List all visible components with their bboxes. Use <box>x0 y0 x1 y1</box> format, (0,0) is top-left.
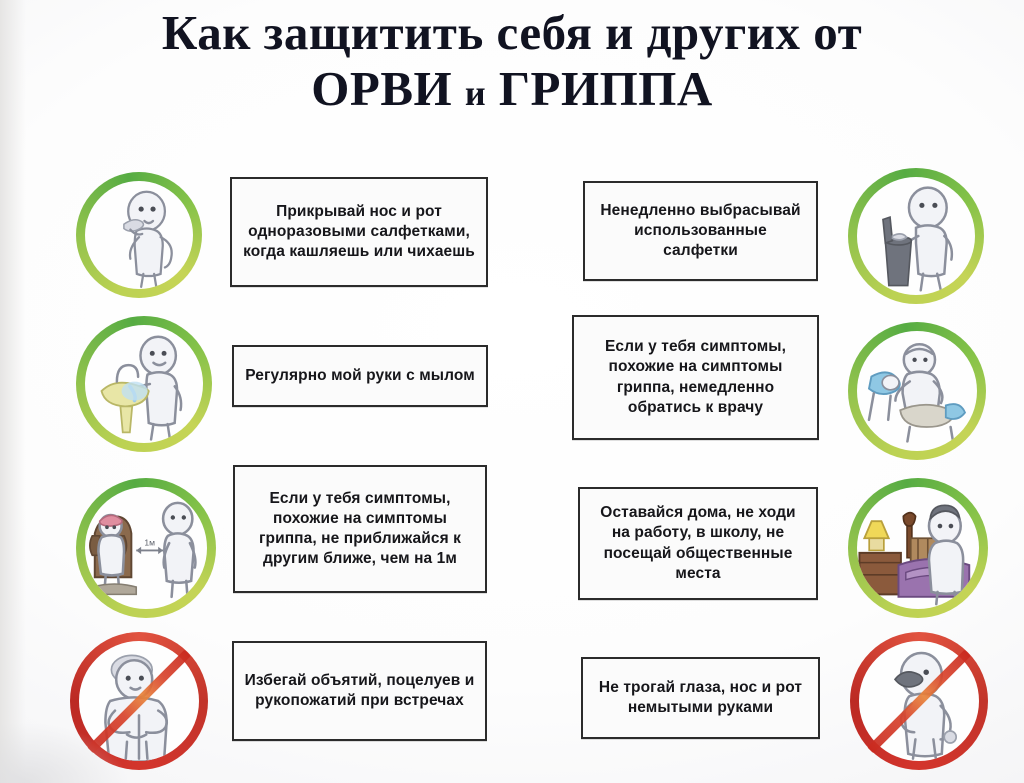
tip-icon-wash-hands-with-soap <box>76 316 212 452</box>
tip-text-keep-one-meter-distance: Если у тебя симптомы, похожие на симптом… <box>245 489 475 570</box>
tip-icon-discard-used-tissues <box>848 168 984 304</box>
page-title-line-1: Как защитить себя и других от <box>0 8 1024 58</box>
page-title-orvi: ОРВИ <box>311 61 452 116</box>
tip-text-stay-at-home: Оставайся дома, не ходи на работу, в шко… <box>590 503 806 584</box>
tip-text-wash-hands-with-soap: Регулярно мой руки с мылом <box>244 366 476 386</box>
tip-box-dont-touch-face: Не трогай глаза, нос и рот немытыми рука… <box>581 657 820 739</box>
poster-page: Как защитить себя и других от ОРВИ и ГРИ… <box>0 0 1024 783</box>
tip-box-keep-one-meter-distance: Если у тебя симптомы, похожие на симптом… <box>233 465 487 593</box>
tip-icon-see-a-doctor <box>848 322 986 460</box>
tip-box-stay-at-home: Оставайся дома, не ходи на работу, в шко… <box>578 487 818 600</box>
washing-hands-at-sink-icon <box>85 325 203 443</box>
tip-icon-keep-one-meter-distance: 1м <box>76 478 216 618</box>
tip-text-dont-touch-face: Не трогай глаза, нос и рот немытыми рука… <box>593 678 808 718</box>
svg-text:1м: 1м <box>144 538 155 548</box>
tip-text-cover-nose-and-mouth: Прикрывай нос и рот одноразовыми салфетк… <box>242 202 476 262</box>
page-title-grippa: ГРИППА <box>499 61 713 116</box>
keep-distance-one-meter-icon: 1м <box>85 487 207 609</box>
tip-text-discard-used-tissues: Ненедленно выбрасывай использованные сал… <box>595 201 806 261</box>
tip-icon-avoid-hugs-and-kisses <box>70 632 208 770</box>
tip-icon-dont-touch-face <box>850 632 988 770</box>
tip-text-see-a-doctor: Если у тебя симптомы, похожие на симптом… <box>584 337 807 418</box>
tip-box-wash-hands-with-soap: Регулярно мой руки с мылом <box>232 345 488 407</box>
doctor-examining-patient-icon <box>857 331 977 451</box>
tip-box-avoid-hugs-and-kisses: Избегай объятий, поцелуев и рукопожатий … <box>232 641 487 741</box>
tip-icon-cover-nose-and-mouth <box>76 172 202 298</box>
tip-text-avoid-hugs-and-kisses: Избегай объятий, поцелуев и рукопожатий … <box>244 671 475 711</box>
tip-box-cover-nose-and-mouth: Прикрывай нос и рот одноразовыми салфетк… <box>230 177 488 287</box>
page-title-conjunction: и <box>465 73 486 113</box>
tip-icon-stay-at-home <box>848 478 988 618</box>
stay-at-home-in-bed-icon <box>857 487 979 609</box>
tip-box-see-a-doctor: Если у тебя симптомы, похожие на симптом… <box>572 315 819 440</box>
tip-box-discard-used-tissues: Ненедленно выбрасывай использованные сал… <box>583 181 818 281</box>
page-title: Как защитить себя и других от ОРВИ и ГРИ… <box>0 8 1024 114</box>
throw-tissue-in-bin-icon <box>857 177 975 295</box>
cover-mouth-with-tissue-icon <box>85 181 193 289</box>
page-title-line-2: ОРВИ и ГРИППА <box>0 64 1024 114</box>
